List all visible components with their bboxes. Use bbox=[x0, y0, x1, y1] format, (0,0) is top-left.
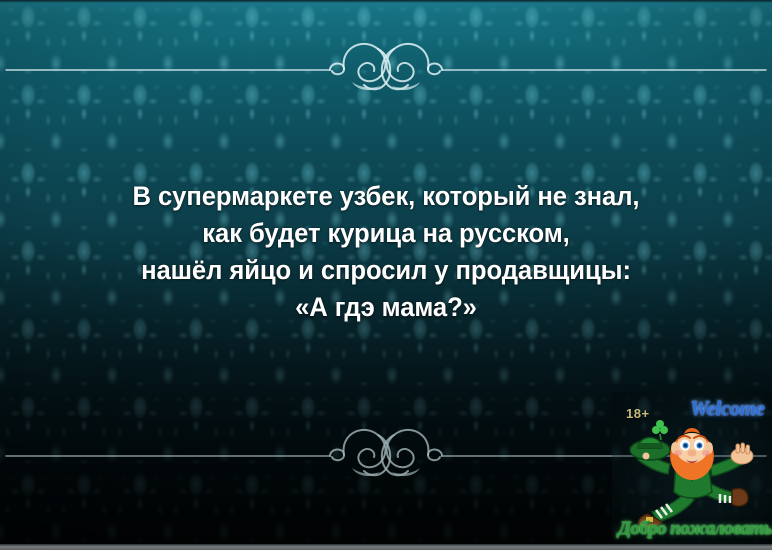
quote-line-3: нашёл яйцо и спросил у продавщицы: bbox=[19, 252, 752, 289]
welcome-script-label: Welcome bbox=[690, 396, 764, 421]
dobro-pozhalovat-script-label: Добро пожаловать! bbox=[618, 518, 772, 540]
leprechaun-icon bbox=[628, 410, 756, 530]
bottom-edge-strip bbox=[0, 544, 772, 550]
welcome-sticker-watermark: 18+ bbox=[612, 392, 772, 550]
quote-line-2: как будет курица на русском, bbox=[19, 215, 752, 252]
top-edge-shadow bbox=[0, 0, 772, 3]
quote-line-1: В супермаркете узбек, который не знал, bbox=[19, 178, 752, 215]
meme-poster: В супермаркете узбек, который не знал, к… bbox=[0, 0, 772, 550]
quote-text-block: В супермаркете узбек, который не знал, к… bbox=[19, 178, 752, 326]
quote-line-4: «А гдэ мама?» bbox=[19, 289, 752, 326]
